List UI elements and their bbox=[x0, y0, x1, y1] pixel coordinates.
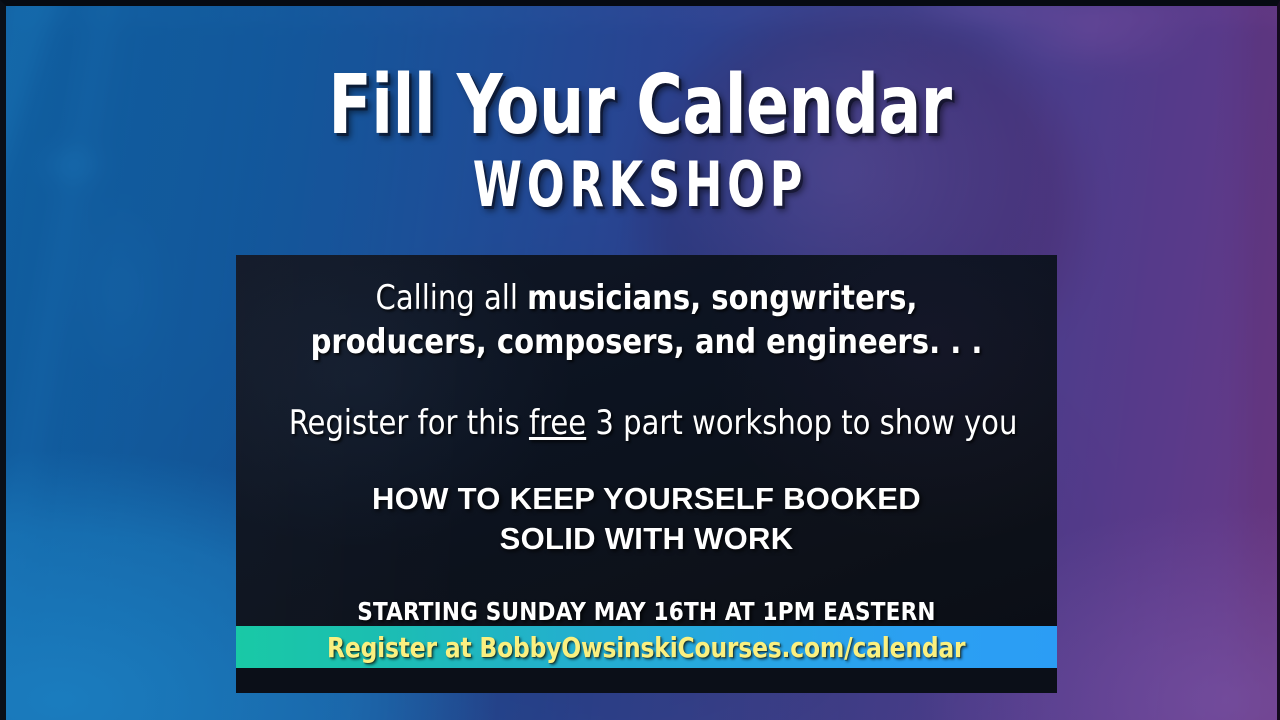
headline-block: Fill Your Calendar WORKSHOP bbox=[0, 66, 1280, 216]
panel-body: Calling all musicians, songwriters, prod… bbox=[236, 255, 1057, 626]
title-secondary: WORKSHOP bbox=[128, 154, 1152, 216]
register-line: Register for this free 3 part workshop t… bbox=[289, 402, 1004, 445]
promo-poster: Fill Your Calendar WORKSHOP Calling all … bbox=[0, 0, 1280, 720]
start-datetime: STARTING SUNDAY MAY 16TH AT 1PM EASTERN bbox=[285, 597, 1008, 626]
promise-line-1: HOW TO KEEP YOURSELF BOOKED bbox=[372, 481, 921, 516]
audience-line: Calling all musicians, songwriters, prod… bbox=[289, 277, 1004, 364]
title-primary: Fill Your Calendar bbox=[90, 66, 1191, 146]
promise-heading: HOW TO KEEP YOURSELF BOOKED SOLID WITH W… bbox=[270, 479, 1023, 560]
audience-prefix: Calling all bbox=[376, 278, 528, 318]
register-suffix: 3 part workshop to show you bbox=[586, 403, 1017, 443]
cta-bar[interactable]: Register at BobbyOwsinskiCourses.com/cal… bbox=[236, 626, 1057, 668]
promise-line-2: SOLID WITH WORK bbox=[500, 521, 794, 556]
register-free-emphasis: free bbox=[529, 403, 586, 443]
content-panel: Calling all musicians, songwriters, prod… bbox=[236, 255, 1057, 693]
register-prefix: Register for this bbox=[289, 403, 529, 443]
cta-url-label[interactable]: Register at BobbyOwsinskiCourses.com/cal… bbox=[327, 631, 965, 664]
panel-footer-strip bbox=[236, 668, 1057, 693]
